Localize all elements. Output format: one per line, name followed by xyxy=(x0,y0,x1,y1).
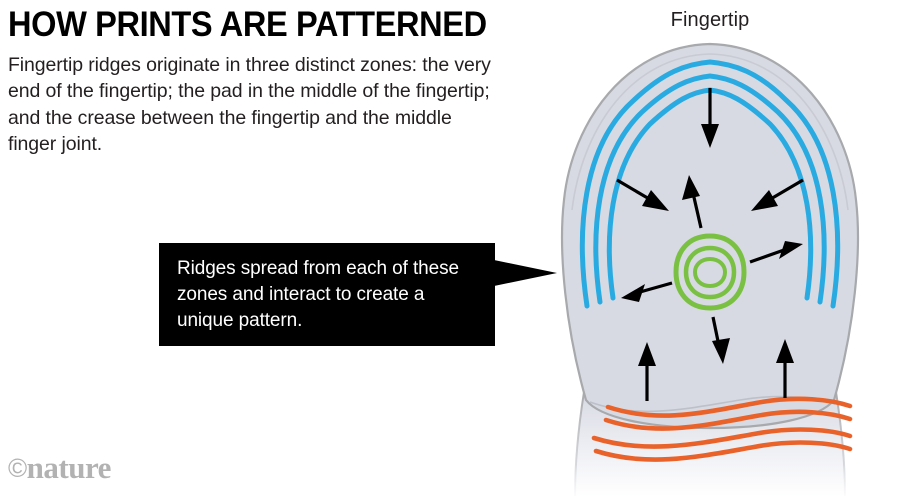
callout-annotation: Ridges spread from each of these zones a… xyxy=(159,243,495,346)
infographic-root: HOW PRINTS ARE PATTERNED Fingertip ridge… xyxy=(0,0,900,496)
callout-box: Ridges spread from each of these zones a… xyxy=(159,243,495,346)
page-title: HOW PRINTS ARE PATTERNED xyxy=(8,6,473,44)
copyright-icon: © xyxy=(8,453,27,483)
fingertip-illustration xyxy=(520,0,900,496)
callout-text: Ridges spread from each of these zones a… xyxy=(177,256,477,334)
nature-logo: ©nature xyxy=(8,452,111,484)
intro-paragraph: Fingertip ridges originate in three dist… xyxy=(8,52,500,158)
brand-name: nature xyxy=(27,450,111,485)
fingertip-diagram: Fingertip xyxy=(520,0,900,496)
